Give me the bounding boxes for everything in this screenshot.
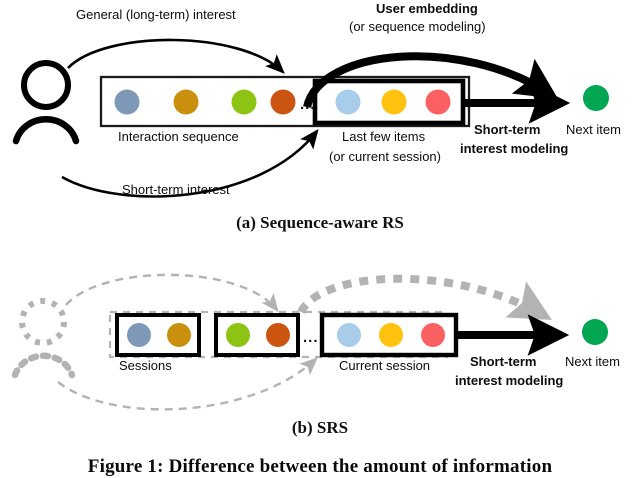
label-user-embedding-sub: (or sequence modeling) [349,20,486,34]
label-short-term-modeling-line1-a: Short-term [474,123,540,137]
figure-caption: Figure 1: Difference between the amount … [0,456,640,478]
general-interest-arrow [68,40,283,72]
label-short-term-interest: Short-term interest [122,183,230,197]
general-interest-arrow-faded [66,275,277,310]
figure-graphics [0,0,640,468]
session-item-2 [382,90,407,115]
subcaption-a: (a) Sequence-aware RS [0,213,640,233]
short-term-interest-arrow-faded [58,359,316,409]
figure-container: General (long-term) interest User embedd… [0,0,640,468]
session-item-3 [426,90,451,115]
person-icon [16,63,76,141]
sequence-ellipsis-a: ... [300,96,316,113]
label-last-few-items-sub: (or current session) [329,150,441,164]
sequence-item-3 [232,90,257,115]
session-item-1 [336,90,361,115]
next-item-circle-b [582,319,608,345]
label-next-item-a: Next item [566,123,621,137]
sequence-item-2 [174,90,199,115]
current-session-items [337,323,445,347]
label-user-embedding: User embedding [376,2,478,16]
sequence-ellipsis-b: ... [303,329,319,346]
panel-a-graphics [16,40,609,196]
label-short-term-modeling-line1-b: Short-term [470,355,536,369]
session-1-item-1 [127,323,151,347]
session-2-item-2 [266,323,290,347]
user-embedding-arrow-faded [301,279,545,316]
current-session-item-2 [379,323,403,347]
label-short-term-modeling-line2-b: interest modeling [455,374,563,388]
current-session-item-3 [421,323,445,347]
label-current-session: Current session [339,359,430,373]
session-2-item-1 [226,323,250,347]
sequence-item-1 [115,90,140,115]
session-1-item-2 [167,323,191,347]
session-items [336,90,451,115]
label-last-few-items: Last few items [342,130,425,144]
label-sessions: Sessions [119,359,172,373]
label-interaction-sequence: Interaction sequence [118,130,239,144]
subcaption-b: (b) SRS [0,418,640,438]
person-icon-faded [15,301,72,375]
label-general-interest: General (long-term) interest [76,8,236,22]
current-session-item-1 [337,323,361,347]
sequence-item-4 [271,90,296,115]
label-short-term-modeling-line2-a: interest modeling [460,142,568,156]
label-next-item-b: Next item [565,355,620,369]
next-item-circle-a [583,85,609,111]
